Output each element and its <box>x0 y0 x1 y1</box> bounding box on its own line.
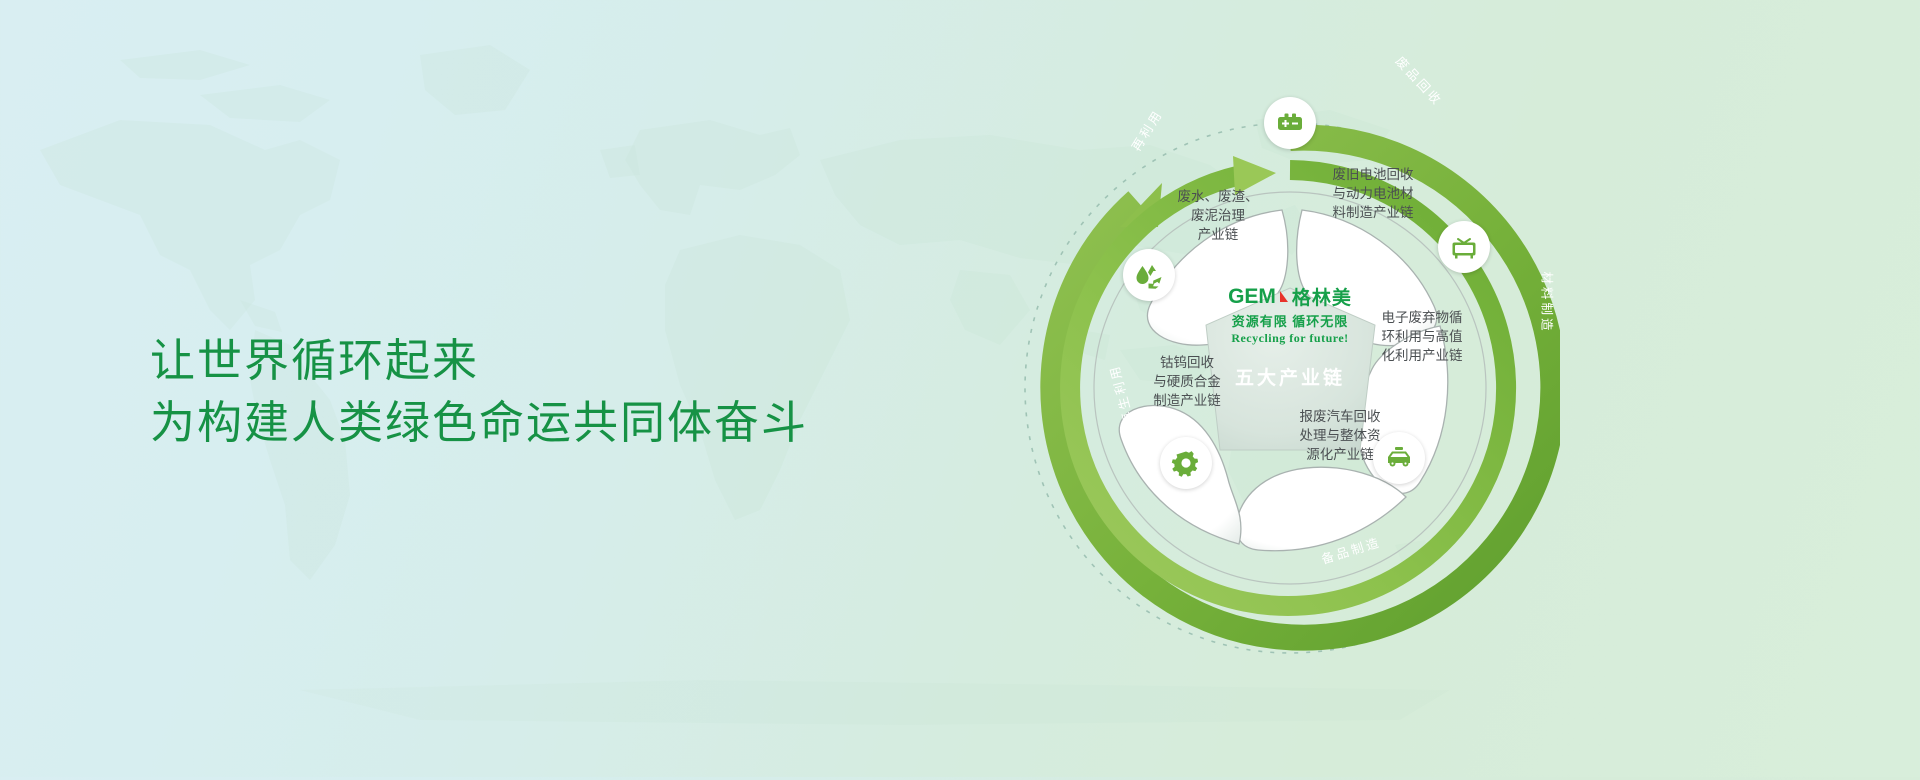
car-icon <box>1383 443 1415 473</box>
gem-logo: GEM 格林美 资源有限 循环无限 Recycling for future! <box>1190 283 1390 346</box>
water-recycle-icon <box>1133 260 1165 290</box>
badge-car <box>1373 432 1425 484</box>
banner-headline: 让世界循环起来 为构建人类绿色命运共同体奋斗 <box>150 330 808 454</box>
gem-logo-chinese: 格林美 <box>1292 283 1352 310</box>
badge-gear <box>1160 437 1212 489</box>
badge-television <box>1438 221 1490 273</box>
headline-line-2: 为构建人类绿色命运共同体奋斗 <box>150 392 808 454</box>
battery-icon <box>1275 108 1305 138</box>
ring-label-manufacturing: 材料制造 <box>1539 271 1558 333</box>
gear-icon <box>1171 448 1201 478</box>
five-industry-chains-infographic: 废品回收 材料制造 备品制造 循环再生利用 再利用 废水、废渣、 废泥治理 产业… <box>1020 0 1560 780</box>
badge-battery <box>1264 97 1316 149</box>
center-subtitle: 五大产业链 <box>1190 363 1390 390</box>
headline-line-1: 让世界循环起来 <box>150 330 808 392</box>
badge-water-recycle <box>1123 249 1175 301</box>
gem-logo-slogan-cn: 资源有限 循环无限 <box>1190 311 1390 330</box>
gem-logo-triangle <box>1280 291 1288 302</box>
segment-label-water: 废水、废渣、 废泥治理 产业链 <box>1148 187 1288 244</box>
segment-label-battery: 废旧电池回收 与动力电池材 料制造产业链 <box>1303 165 1443 222</box>
gem-logo-wordmark: GEM <box>1228 285 1276 309</box>
television-icon <box>1449 232 1479 262</box>
gem-logo-slogan-en: Recycling for future! <box>1190 331 1390 346</box>
